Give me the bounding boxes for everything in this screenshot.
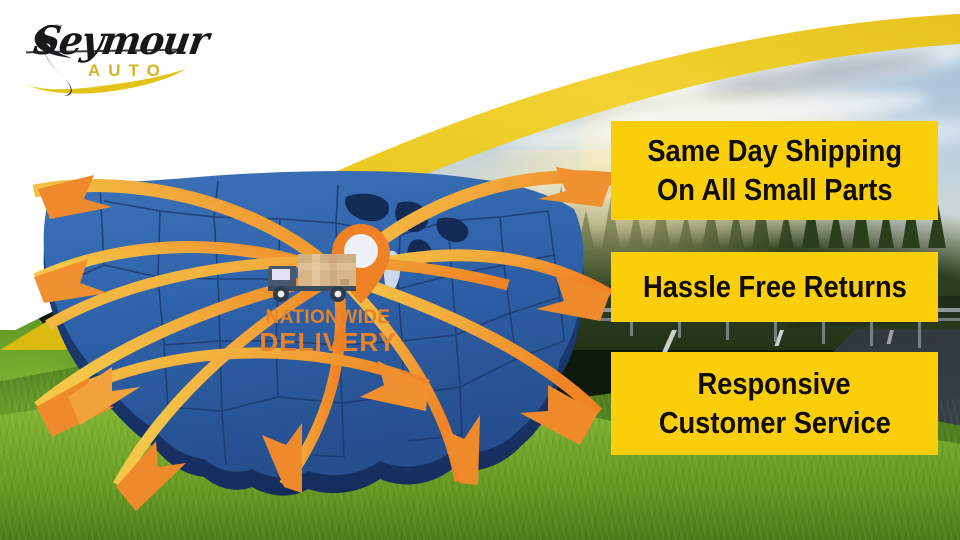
delivery-truck-icon [268,248,360,304]
claim-line: Hassle Free Returns [643,271,907,303]
claim-line: Same Day Shipping [647,135,902,167]
promo-banner: Seymour AUTO [0,0,960,540]
claim-box-hassle-free-returns[interactable]: Hassle Free Returns [611,252,938,322]
claim-line: Responsive [698,368,851,400]
truck-window [272,269,290,280]
claim-line: On All Small Parts [657,174,892,206]
logo-script-name: Seymour [30,17,211,64]
claim-line: Customer Service [659,407,891,439]
label-line-1: NATIONWIDE [258,308,398,327]
label-line-2: DELIVERY [258,329,398,355]
brand-logo[interactable]: Seymour AUTO [20,14,195,98]
claim-box-same-day-shipping[interactable]: Same Day Shipping On All Small Parts [611,121,938,220]
logo-sub-name: AUTO [88,61,168,81]
nationwide-delivery-label: NATIONWIDE DELIVERY [258,308,398,355]
claim-box-responsive-customer-service[interactable]: Responsive Customer Service [611,352,938,455]
